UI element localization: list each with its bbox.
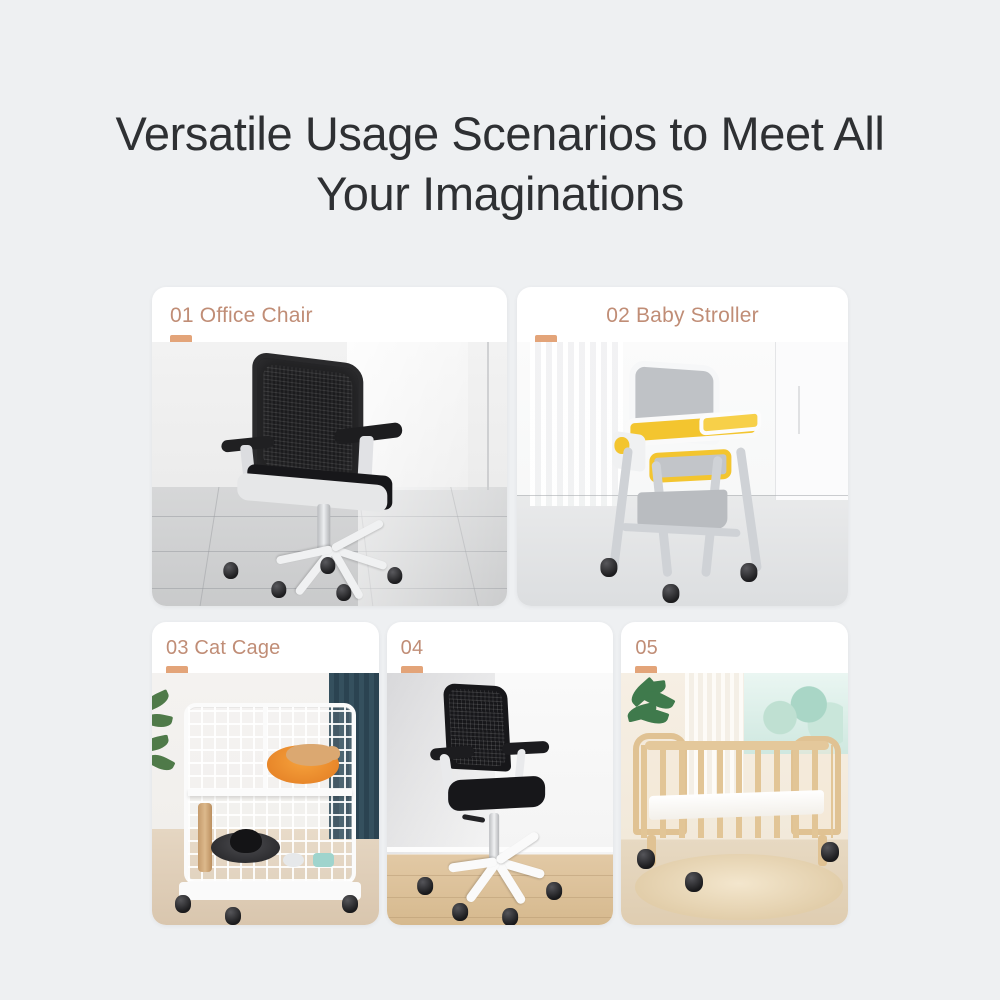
chair-seat [448, 775, 545, 811]
accent-tab-icon [535, 335, 557, 342]
accent-tab-icon [635, 666, 657, 673]
caster-wheel [600, 558, 617, 577]
chair-height-lever [462, 814, 486, 823]
card-photo-baby-stroller [517, 342, 848, 606]
black-cat [230, 829, 261, 853]
scenario-card-01[interactable]: 01 Office Chair [152, 287, 507, 606]
caster-wheel [272, 581, 287, 598]
caster-wheel [502, 908, 518, 925]
chair-leg [330, 519, 384, 553]
scenario-card-04[interactable]: 04 [387, 622, 614, 925]
caster-wheel [662, 584, 679, 603]
chair-base [442, 854, 553, 892]
cat-cage-illustration [184, 703, 356, 884]
cabinet [775, 342, 848, 500]
caster-wheel [225, 907, 241, 925]
scenario-card-02[interactable]: 02 Baby Stroller [517, 287, 848, 606]
caster-wheel [342, 895, 358, 913]
plant-leaf [152, 734, 170, 752]
highchair-leg [735, 447, 761, 572]
card-row-top: 01 Office Chair [152, 287, 848, 606]
card-label-03: 03 Cat Cage [152, 622, 379, 673]
card-label-01: 01 Office Chair [152, 287, 507, 342]
caster-wheel [740, 563, 757, 582]
caster-wheel [546, 882, 562, 900]
plant-leaf [152, 689, 171, 712]
orange-cat [286, 744, 335, 767]
card-photo-office-chair [152, 342, 507, 606]
chair-leg [495, 830, 540, 865]
caster-wheel [685, 872, 703, 892]
card-label-02: 02 Baby Stroller [517, 287, 848, 342]
caster-wheel [387, 567, 402, 584]
accent-tab-icon [166, 666, 188, 673]
baby-crib-illustration [633, 733, 842, 874]
scenario-card-05[interactable]: 05 [621, 622, 848, 925]
wall-edge [487, 342, 489, 490]
crib-top-rail [645, 741, 829, 750]
caster-wheel [175, 895, 191, 913]
plant-leaf [152, 712, 173, 730]
caster-wheel [320, 557, 335, 574]
chair-backrest [443, 684, 511, 773]
cage-shelf [188, 789, 352, 796]
accent-tab-icon [401, 666, 423, 673]
water-container [313, 853, 334, 867]
cage-base-tray [179, 882, 360, 900]
card-label-04: 04 [387, 622, 614, 673]
card-row-bottom: 03 Cat Cage [152, 622, 848, 925]
card-label-05: 05 [621, 622, 848, 673]
card-photo-cat-cage [152, 673, 379, 925]
caster-wheel [452, 903, 468, 921]
cage-door-divider [263, 707, 267, 789]
scenario-card-grid: 01 Office Chair [152, 287, 848, 925]
page-title: Versatile Usage Scenarios to Meet All Yo… [0, 104, 1000, 224]
task-chair-illustration [412, 683, 580, 920]
card-photo-baby-crib [621, 673, 848, 925]
plant-leaf [152, 751, 175, 775]
accent-tab-icon [170, 335, 192, 342]
high-chair-illustration [580, 363, 785, 595]
office-chair-illustration [209, 358, 450, 601]
scratching-post [198, 803, 213, 872]
food-bowl [283, 853, 304, 867]
caster-wheel [337, 584, 352, 601]
caster-wheel [637, 849, 655, 869]
card-photo-task-chair [387, 673, 614, 925]
chair-armrest-right [502, 741, 550, 755]
caster-wheel [821, 842, 839, 862]
caster-wheel [417, 877, 433, 895]
caster-wheel [223, 562, 238, 579]
scenario-card-03[interactable]: 03 Cat Cage [152, 622, 379, 925]
promo-page: Versatile Usage Scenarios to Meet All Yo… [0, 0, 1000, 1000]
